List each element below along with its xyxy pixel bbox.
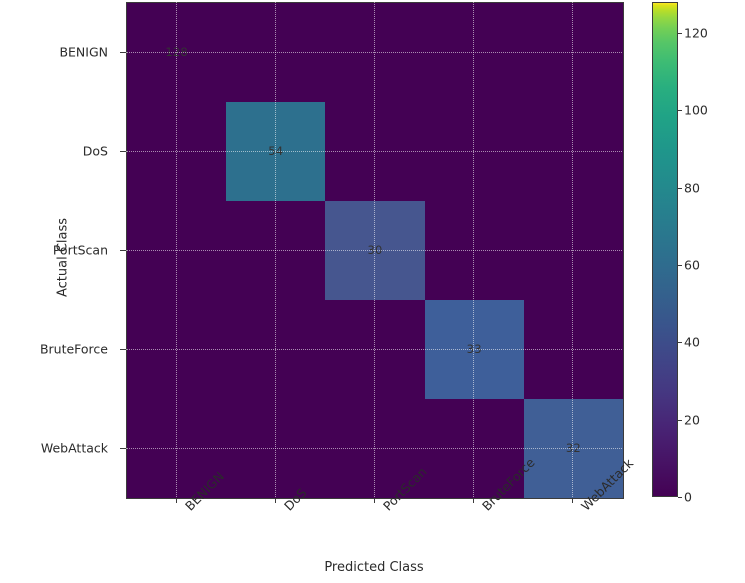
heatmap-cell (325, 3, 424, 102)
colorbar-tick-label: 80 (684, 180, 700, 195)
colorbar-tick-label: 20 (684, 412, 700, 427)
y-tick-label-bruteforce: BruteForce (40, 341, 108, 356)
y-tick-label-webattack: WebAttack (41, 440, 108, 455)
x-tick-mark (275, 498, 276, 503)
confusion-matrix-figure: 12854303332 BENIGNDoSPortScanBruteForceW… (0, 0, 745, 583)
heatmap-cell (127, 201, 226, 300)
y-tick-mark (120, 52, 126, 53)
cell-value: 33 (467, 344, 482, 356)
colorbar-tick-mark (678, 110, 682, 111)
colorbar-tick-label: 0 (684, 490, 692, 505)
y-tick-label-dos: DoS (83, 143, 108, 158)
x-tick-mark (374, 498, 375, 503)
colorbar-tick-label: 120 (684, 25, 708, 40)
colorbar-tick-mark (678, 497, 682, 498)
heatmap-cell (226, 201, 325, 300)
colorbar-tick-mark (678, 265, 682, 266)
heatmap-cell (325, 102, 424, 201)
x-tick-mark (572, 498, 573, 503)
heatmap-cell (226, 399, 325, 498)
y-axis-label: Actual Class (56, 178, 71, 338)
colorbar (652, 2, 678, 497)
cell-value: 32 (566, 443, 581, 455)
colorbar-tick-label: 40 (684, 335, 700, 350)
colorbar-gradient (652, 2, 678, 497)
y-tick-mark (120, 151, 126, 152)
heatmap-cell: 30 (325, 201, 424, 300)
heatmap-cell (425, 3, 524, 102)
y-tick-label-benign: BENIGN (59, 44, 108, 59)
y-tick-mark (120, 448, 126, 449)
heatmap-cell: 128 (127, 3, 226, 102)
x-axis-label: Predicted Class (126, 560, 622, 575)
cell-value: 54 (268, 146, 283, 158)
heatmap-cell (226, 300, 325, 399)
heatmap-cell (425, 102, 524, 201)
heatmap-cell (524, 201, 623, 300)
cell-value: 30 (367, 245, 382, 257)
heatmap-cell (226, 3, 325, 102)
heatmap-cell (425, 201, 524, 300)
x-tick-mark (176, 498, 177, 503)
y-tick-mark (120, 349, 126, 350)
heatmap-cell (524, 300, 623, 399)
heatmap-cell: 33 (425, 300, 524, 399)
heatmap-plot-area: 12854303332 (126, 2, 624, 499)
colorbar-tick-mark (678, 188, 682, 189)
colorbar-tick-mark (678, 342, 682, 343)
heatmap-cell (127, 102, 226, 201)
heatmap-cell (127, 300, 226, 399)
heatmap-cell: 54 (226, 102, 325, 201)
y-tick-mark (120, 250, 126, 251)
x-tick-mark (473, 498, 474, 503)
cell-value: 128 (165, 47, 188, 59)
colorbar-tick-label: 100 (684, 103, 708, 118)
colorbar-tick-mark (678, 33, 682, 34)
heatmap-cell (524, 102, 623, 201)
heatmap-cell (325, 300, 424, 399)
colorbar-tick-mark (678, 420, 682, 421)
colorbar-tick-label: 60 (684, 257, 700, 272)
heatmap-cell (524, 3, 623, 102)
